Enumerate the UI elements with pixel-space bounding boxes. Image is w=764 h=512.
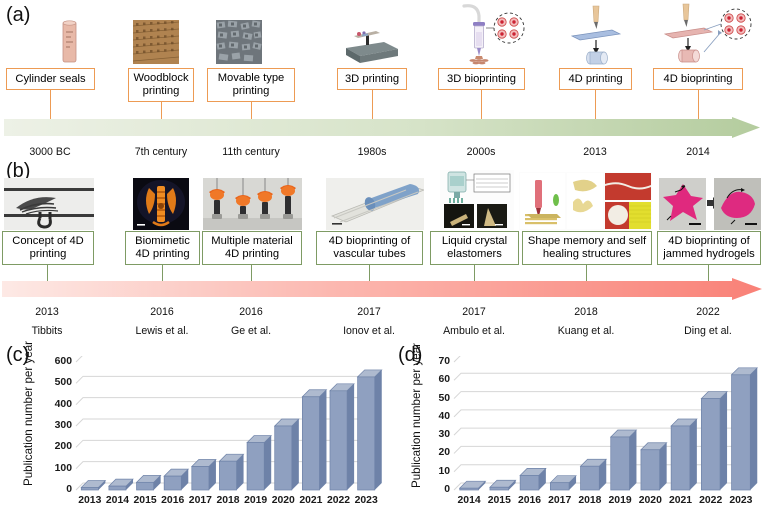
timeline-b-author-0: Tibbits <box>7 325 87 337</box>
timeline-b-item-2-label[interactable]: Multiple material 4D printing <box>202 231 302 265</box>
bar-side-face <box>292 419 299 490</box>
bar-side-face <box>629 430 636 490</box>
timeline-b-author-2: Ge et al. <box>211 325 291 337</box>
panel-d-publications-chart: (d) Publication number per year 01020304… <box>392 340 764 512</box>
x-axis-tick: 2023 <box>723 495 759 506</box>
timeline-a-year-4: 2000s <box>441 146 521 158</box>
timeline-a-item-2-label[interactable]: Movable type printing <box>207 68 295 102</box>
bar-top-face <box>460 481 486 488</box>
timeline-b-item-6-label[interactable]: 4D bioprinting of jammed hydrogels <box>657 231 761 265</box>
bar[interactable] <box>460 488 479 490</box>
y-axis-tick: 400 <box>40 399 72 410</box>
3d-printer-illustration <box>336 22 406 66</box>
y-axis-tick: 0 <box>418 484 450 495</box>
timeline-b-year-4: 2017 <box>434 306 514 318</box>
chart-gridlines <box>36 356 384 512</box>
bar[interactable] <box>520 475 539 490</box>
4d-bioprinting-illustration <box>660 2 760 66</box>
timeline-a-item-6-label[interactable]: 4D bioprinting <box>653 68 743 90</box>
timeline-a-year-5: 2013 <box>555 146 635 158</box>
bar[interactable] <box>671 426 690 490</box>
panel-c-publications-chart: (c) Publication number per year 01002003… <box>0 340 392 512</box>
bar[interactable] <box>109 486 126 490</box>
bar[interactable] <box>275 426 292 490</box>
panel-b-milestones-timeline: (b) <box>0 160 764 340</box>
bar[interactable] <box>81 487 98 490</box>
timeline-a-item-0-label[interactable]: Cylinder seals <box>6 68 95 90</box>
timeline-b-author-4: Ambulo et al. <box>434 325 514 337</box>
timeline-b-year-1: 2016 <box>122 306 202 318</box>
panel-a-history-timeline: (a) <box>0 0 764 162</box>
y-axis-tick: 30 <box>418 429 450 440</box>
bar[interactable] <box>164 476 181 490</box>
cylinder-seal-illustration <box>58 18 82 66</box>
timeline-b-item-1-label[interactable]: Biomimetic 4D printing <box>125 231 200 265</box>
panel-d-plot-area: 0102030405060702014201520162017201820192… <box>424 356 760 512</box>
movable-type-illustration <box>216 20 262 64</box>
y-axis-tick: 10 <box>418 466 450 477</box>
timeline-b-year-6: 2022 <box>668 306 748 318</box>
bar[interactable] <box>302 397 319 490</box>
y-axis-tick: 0 <box>40 484 72 495</box>
bar-side-face <box>660 443 667 490</box>
timeline-b-item-0-label[interactable]: Concept of 4D printing <box>2 231 94 265</box>
bar[interactable] <box>611 437 630 490</box>
y-axis-tick: 50 <box>418 393 450 404</box>
4d-printing-illustration <box>560 4 632 66</box>
shape-memory-self-healing-photo <box>519 172 652 230</box>
panel-a-label: (a) <box>6 4 30 27</box>
bar[interactable] <box>137 482 154 490</box>
bar-side-face <box>375 370 382 490</box>
y-axis-tick: 100 <box>40 463 72 474</box>
timeline-a-year-6: 2014 <box>658 146 738 158</box>
bar-side-face <box>319 390 326 490</box>
timeline-b-author-3: Ionov et al. <box>329 325 409 337</box>
timeline-b-year-3: 2017 <box>329 306 409 318</box>
bar[interactable] <box>550 483 569 490</box>
y-axis-tick: 500 <box>40 377 72 388</box>
timeline-b-year-5: 2018 <box>546 306 626 318</box>
timeline-a-item-5-label[interactable]: 4D printing <box>559 68 632 90</box>
y-axis-tick: 200 <box>40 441 72 452</box>
timeline-a-year-1: 7th century <box>121 146 201 158</box>
bar-side-face <box>264 436 271 490</box>
timeline-a-item-4-label[interactable]: 3D bioprinting <box>438 68 525 90</box>
timeline-a-year-0: 3000 BC <box>10 146 90 158</box>
timeline-a-item-1-label[interactable]: Woodblock printing <box>128 68 194 102</box>
bioprinting-syringe-illustration <box>452 2 530 66</box>
bar[interactable] <box>701 399 720 490</box>
timeline-b-item-4-label[interactable]: Liquid crystal elastomers <box>430 231 519 265</box>
y-axis-tick: 40 <box>418 411 450 422</box>
milestones-timeline-arrow <box>2 278 762 300</box>
bar[interactable] <box>247 443 264 490</box>
timeline-b-year-2: 2016 <box>211 306 291 318</box>
y-axis-tick: 600 <box>40 356 72 367</box>
bar[interactable] <box>490 487 509 490</box>
bar[interactable] <box>192 467 209 490</box>
bar-side-face <box>720 392 727 490</box>
y-axis-tick: 300 <box>40 420 72 431</box>
y-axis-tick: 60 <box>418 374 450 385</box>
y-axis-tick: 20 <box>418 447 450 458</box>
timeline-b-year-0: 2013 <box>7 306 87 318</box>
chart-gridlines <box>424 356 760 512</box>
liquid-crystal-elastomer-photo <box>440 170 514 230</box>
bar[interactable] <box>330 391 347 490</box>
timeline-b-author-5: Kuang et al. <box>546 325 626 337</box>
bar-side-face <box>347 384 354 490</box>
panel-c-y-axis-title: Publication number per year <box>22 341 35 486</box>
bar[interactable] <box>358 377 375 490</box>
timeline-a-item-3-label[interactable]: 3D printing <box>337 68 407 90</box>
timeline-b-item-5-label[interactable]: Shape memory and self healing structures <box>522 231 652 265</box>
bar-side-face <box>750 368 757 490</box>
timeline-b-author-1: Lewis et al. <box>122 325 202 337</box>
bar[interactable] <box>641 450 660 490</box>
bar-side-face <box>690 419 697 490</box>
bar[interactable] <box>581 466 600 490</box>
woodblock-illustration <box>133 20 179 64</box>
jammed-hydrogel-gripper-photo <box>659 178 761 230</box>
y-axis-tick: 70 <box>418 356 450 367</box>
bar[interactable] <box>219 461 236 490</box>
biomimetic-orchid-photo <box>133 178 189 230</box>
bar[interactable] <box>732 375 751 490</box>
timeline-b-author-6: Ding et al. <box>668 325 748 337</box>
history-timeline-arrow <box>4 117 760 138</box>
timeline-a-year-3: 1980s <box>332 146 412 158</box>
timeline-b-item-3-label[interactable]: 4D bioprinting of vascular tubes <box>316 231 423 265</box>
vascular-tube-photo <box>326 178 424 230</box>
panel-c-plot-area: 0100200300400500600201320142015201620172… <box>36 356 384 512</box>
timeline-a-year-2: 11th century <box>210 146 292 158</box>
multi-material-flowers-photo <box>203 178 302 230</box>
xray-4d-print-photo <box>4 178 94 230</box>
x-axis-tick: 2023 <box>348 495 384 506</box>
